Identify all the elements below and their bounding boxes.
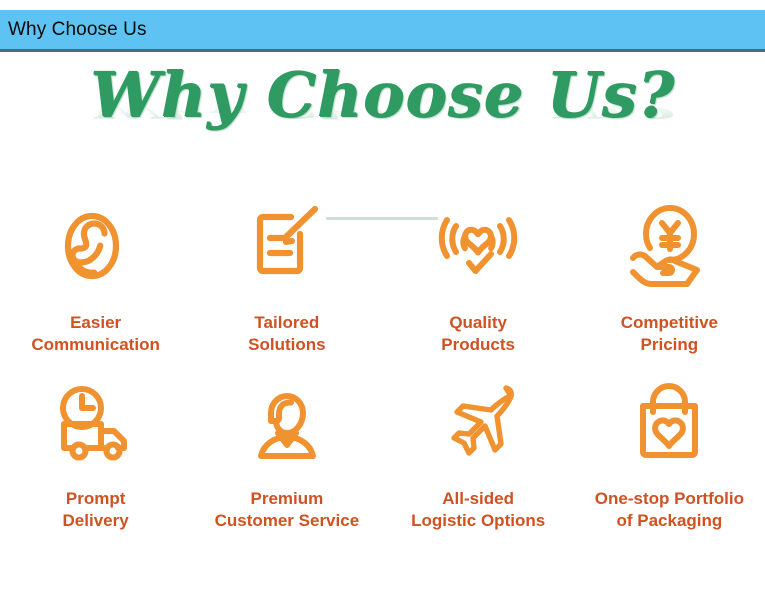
heart-waves-check-icon (428, 196, 528, 296)
feature-all-sided-logistic-options[interactable]: All-sided Logistic Options (383, 376, 574, 532)
hero-title-reflection: Why Choose Us? (0, 124, 765, 198)
window-title: Why Choose Us (0, 19, 147, 41)
feature-tailored-solutions[interactable]: Tailored Solutions (191, 196, 382, 356)
hero-banner: Why Choose Us? Why Choose Us? (0, 58, 765, 168)
delivery-truck-clock-icon (46, 376, 146, 476)
feature-premium-customer-service[interactable]: Premium Customer Service (191, 376, 382, 532)
feature-label: Premium Customer Service (215, 488, 360, 532)
feature-prompt-delivery[interactable]: Prompt Delivery (0, 376, 191, 532)
window-title-bar: Why Choose Us (0, 10, 765, 52)
feature-label: Tailored Solutions (248, 312, 325, 356)
feature-label: Quality Products (441, 312, 515, 356)
features-row: Easier Communication Tailored Solutions (0, 196, 765, 356)
hero-title-wrap: Why Choose Us? (0, 58, 765, 132)
hand-holding-yen-coin-icon (619, 196, 719, 296)
hero-title: Why Choose Us? (0, 58, 765, 132)
airplane-icon (428, 376, 528, 476)
feature-label: All-sided Logistic Options (411, 488, 545, 532)
feature-one-stop-portfolio-of-packaging[interactable]: One-stop Portfolio of Packaging (574, 376, 765, 532)
ear-listening-icon (46, 196, 146, 296)
feature-easier-communication[interactable]: Easier Communication (0, 196, 191, 356)
feature-label: Easier Communication (31, 312, 159, 356)
feature-competitive-pricing[interactable]: Competitive Pricing (574, 196, 765, 356)
feature-label: Competitive Pricing (621, 312, 718, 356)
document-pencil-icon (237, 196, 337, 296)
features-grid: Easier Communication Tailored Solutions (0, 196, 765, 532)
feature-quality-products[interactable]: Quality Products (383, 196, 574, 356)
shopping-bag-heart-icon (619, 376, 719, 476)
features-row: Prompt Delivery Premium Customer Service (0, 376, 765, 532)
headset-agent-icon (237, 376, 337, 476)
feature-label: Prompt Delivery (63, 488, 129, 532)
feature-label: One-stop Portfolio of Packaging (595, 488, 744, 532)
